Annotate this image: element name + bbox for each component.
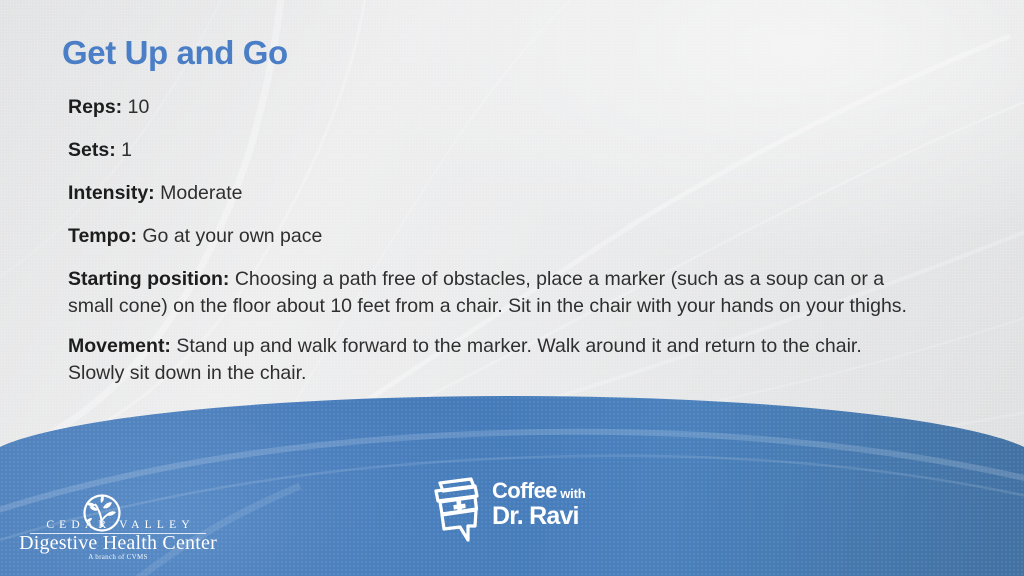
coffee-logo-line2: Dr. Ravi — [492, 503, 585, 529]
coffee-cup-medical-cross-icon — [424, 474, 488, 553]
detail-value: Go at your own pace — [142, 225, 322, 247]
paragraph-label: Movement: — [68, 335, 171, 357]
detail-row-sets: Sets: 1 — [68, 137, 920, 164]
detail-row-tempo: Tempo: Go at your own pace — [68, 223, 920, 250]
exercise-details: Reps: 10 Sets: 1 Intensity: Moderate Tem… — [68, 94, 920, 387]
detail-label: Intensity: — [68, 182, 155, 204]
coffee-logo-line1: Coffee with — [492, 480, 585, 503]
detail-label: Tempo: — [68, 225, 137, 247]
coffee-with-word: with — [557, 486, 586, 501]
detail-row-reps: Reps: 10 — [68, 94, 920, 121]
cedar-valley-logo: CEDAR VALLEY Digestive Health Center A b… — [18, 496, 218, 562]
detail-label: Sets: — [68, 139, 116, 161]
coffee-with-dr-ravi-logo: Coffee with Dr. Ravi — [424, 474, 624, 548]
coffee-word: Coffee — [492, 478, 557, 503]
detail-label: Reps: — [68, 96, 122, 118]
detail-value: 10 — [128, 96, 150, 118]
coffee-logo-text: Coffee with Dr. Ravi — [492, 480, 585, 529]
cedar-valley-center-name: Digestive Health Center — [18, 532, 218, 555]
slide: Get Up and Go Reps: 10 Sets: 1 Intensity… — [0, 0, 1024, 576]
page-title: Get Up and Go — [62, 34, 288, 72]
detail-row-intensity: Intensity: Moderate — [68, 180, 920, 207]
cedar-valley-subtitle: A branch of CVMS — [18, 553, 218, 561]
detail-value: Moderate — [160, 182, 242, 204]
paragraph-movement: Movement: Stand up and walk forward to t… — [68, 333, 920, 387]
paragraph-label: Starting position: — [68, 268, 229, 290]
paragraph-text: Stand up and walk forward to the marker.… — [68, 335, 862, 384]
detail-value: 1 — [121, 139, 132, 161]
paragraph-starting-position: Starting position: Choosing a path free … — [68, 266, 920, 320]
